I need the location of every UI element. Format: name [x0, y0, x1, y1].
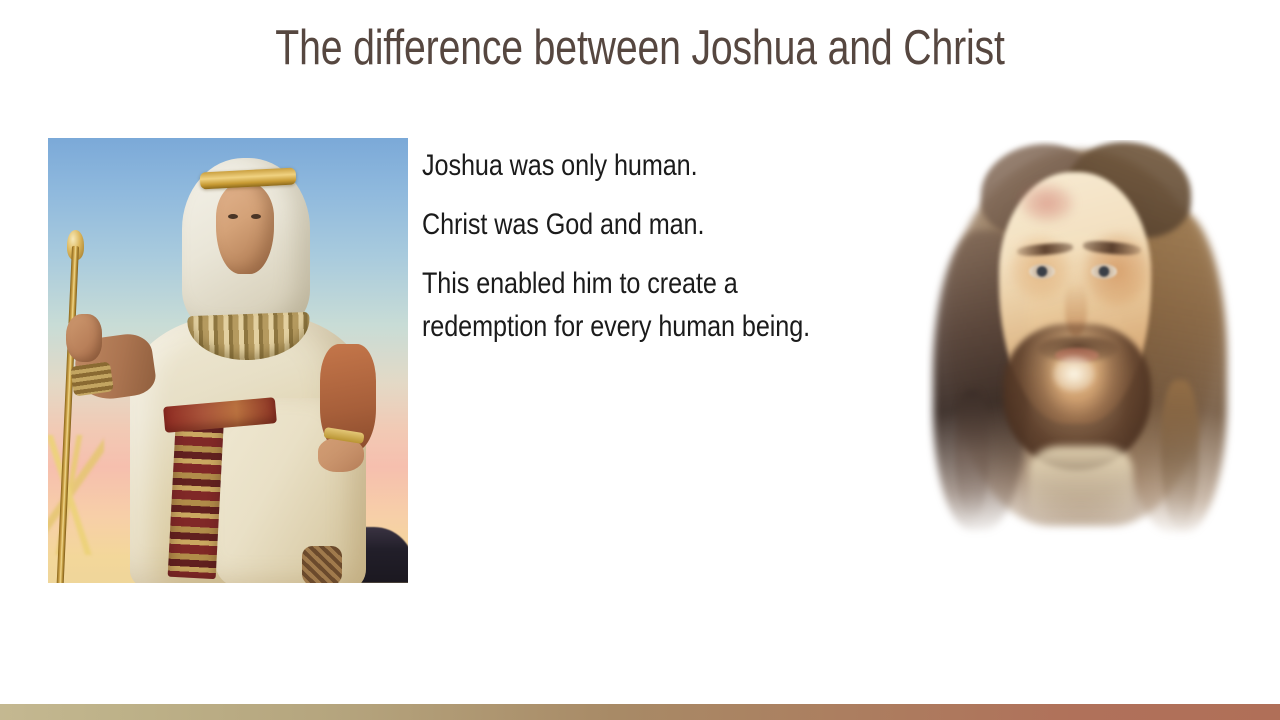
joshua-sandal: [302, 546, 342, 583]
christ-right-eye: [1091, 264, 1117, 279]
joshua-painting-image: [48, 138, 408, 583]
christ-neck: [1029, 446, 1133, 526]
body-text-block: Joshua was only human. Christ was God an…: [422, 144, 932, 348]
joshua-left-hand: [66, 314, 102, 362]
slide-title: The difference between Joshua and Christ: [128, 22, 1152, 75]
christ-hair-strand-left: [955, 390, 989, 520]
body-line-1: Joshua was only human.: [422, 144, 850, 187]
decorative-gradient-bar: [0, 704, 1280, 720]
joshua-left-eye: [228, 214, 238, 219]
christ-watercolor-image: [925, 140, 1235, 550]
body-line-2: Christ was God and man.: [422, 203, 850, 246]
palm-frond-decor: [48, 435, 104, 555]
christ-left-eye: [1029, 264, 1055, 279]
joshua-patterned-sash: [168, 409, 225, 579]
joshua-wrist-cuff: [70, 361, 114, 396]
joshua-face: [216, 182, 274, 274]
christ-hair-strand-right: [1161, 380, 1199, 530]
joshua-right-eye: [251, 214, 261, 219]
body-line-3: This enabled him to create a redemption …: [422, 262, 850, 348]
christ-chin-highlight: [1053, 356, 1095, 392]
presentation-slide: The difference between Joshua and Christ…: [0, 0, 1280, 720]
christ-forehead-blush: [1021, 184, 1073, 222]
